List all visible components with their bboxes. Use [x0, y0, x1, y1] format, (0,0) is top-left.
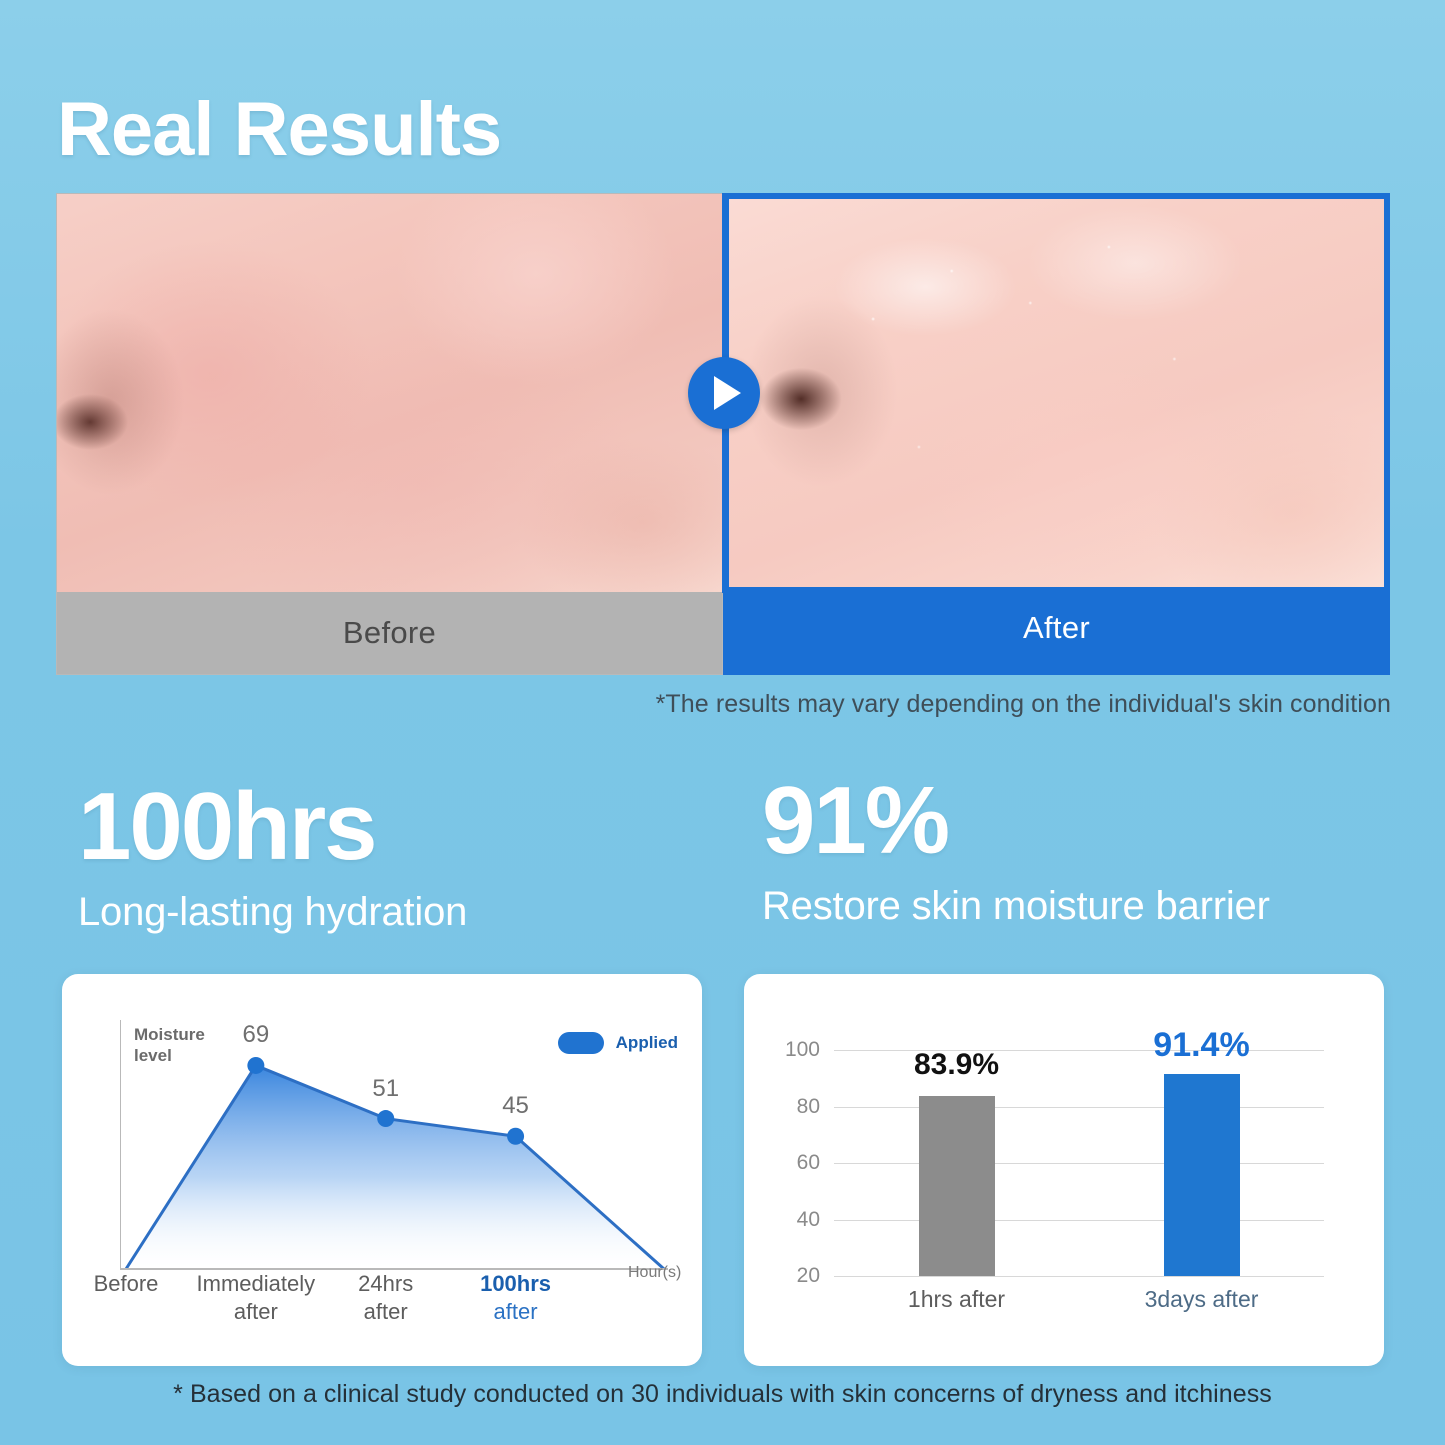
after-panel: After: [723, 193, 1390, 675]
barrier-y-tick: 20: [797, 1264, 820, 1288]
barrier-gridline: 100: [834, 1050, 1324, 1051]
results-disclaimer: *The results may vary depending on the i…: [656, 690, 1391, 719]
hydration-x-label: Before: [94, 1270, 159, 1298]
barrier-plot: 1008060402083.9%91.4%: [834, 1036, 1324, 1276]
before-skin-image: [57, 194, 722, 594]
barrier-gridline: 20: [834, 1276, 1324, 1277]
barrier-gridline: 60: [834, 1163, 1324, 1164]
hydration-chart-card: Moisture level Applied 695145: [62, 974, 702, 1366]
hydration-x-label-line2: after: [480, 1298, 551, 1326]
stat-barrier-number: 91%: [762, 772, 1270, 870]
play-triangle: [714, 376, 741, 410]
infographic-page: Real Results Before After *The results m…: [0, 0, 1445, 1445]
hydration-x-label-line1: 24hrs: [358, 1270, 413, 1298]
barrier-value-label: 83.9%: [914, 1048, 999, 1082]
before-panel: Before: [56, 193, 723, 675]
study-footnote: * Based on a clinical study conducted on…: [0, 1380, 1445, 1409]
stat-hydration-caption: Long-lasting hydration: [78, 890, 467, 935]
stat-barrier: 91% Restore skin moisture barrier: [762, 772, 1270, 929]
hydration-x-label-line1: Immediately: [197, 1270, 316, 1298]
hydration-point-labels: 695145: [120, 1020, 668, 1270]
hydration-x-label-line2: after: [358, 1298, 413, 1326]
hydration-x-label: Immediatelyafter: [197, 1270, 316, 1325]
before-after-comparison: Before After: [56, 193, 1390, 675]
page-title: Real Results: [57, 92, 501, 168]
barrier-y-tick: 60: [797, 1151, 820, 1175]
stat-hydration-number: 100hrs: [78, 778, 467, 876]
hours-axis-title: Hour(s): [628, 1264, 681, 1282]
hydration-plot: 695145: [120, 1020, 668, 1270]
hydration-value-label: 45: [502, 1092, 529, 1120]
barrier-gridline: 40: [834, 1220, 1324, 1221]
before-label: Before: [57, 592, 722, 674]
play-icon[interactable]: [688, 357, 760, 429]
barrier-x-label: 3days after: [1145, 1286, 1259, 1313]
barrier-y-tick: 40: [797, 1208, 820, 1232]
stat-hydration: 100hrs Long-lasting hydration: [78, 778, 467, 935]
stat-barrier-caption: Restore skin moisture barrier: [762, 884, 1270, 929]
hydration-x-label: 24hrsafter: [358, 1270, 413, 1325]
barrier-x-axis-labels: 1hrs after3days after: [834, 1286, 1324, 1326]
hydration-x-label-line1: 100hrs: [480, 1270, 551, 1298]
hydration-x-label-line1: Before: [94, 1270, 159, 1298]
hydration-x-label-line2: after: [197, 1298, 316, 1326]
barrier-gridline: 80: [834, 1107, 1324, 1108]
barrier-y-tick: 80: [797, 1095, 820, 1119]
barrier-value-label: 91.4%: [1153, 1026, 1249, 1065]
barrier-bar: [919, 1096, 995, 1276]
barrier-chart-card: 1008060402083.9%91.4% 1hrs after3days af…: [744, 974, 1384, 1366]
hydration-x-axis-labels: BeforeImmediatelyafter24hrsafter100hrsaf…: [86, 1270, 686, 1340]
after-label: After: [729, 587, 1384, 669]
hydration-value-label: 69: [242, 1021, 269, 1049]
barrier-y-tick: 100: [785, 1038, 820, 1062]
hydration-value-label: 51: [372, 1075, 399, 1103]
barrier-x-label: 1hrs after: [908, 1286, 1005, 1313]
hydration-x-label: 100hrsafter: [480, 1270, 551, 1325]
barrier-bar: [1164, 1074, 1240, 1276]
after-skin-image: [729, 199, 1384, 599]
